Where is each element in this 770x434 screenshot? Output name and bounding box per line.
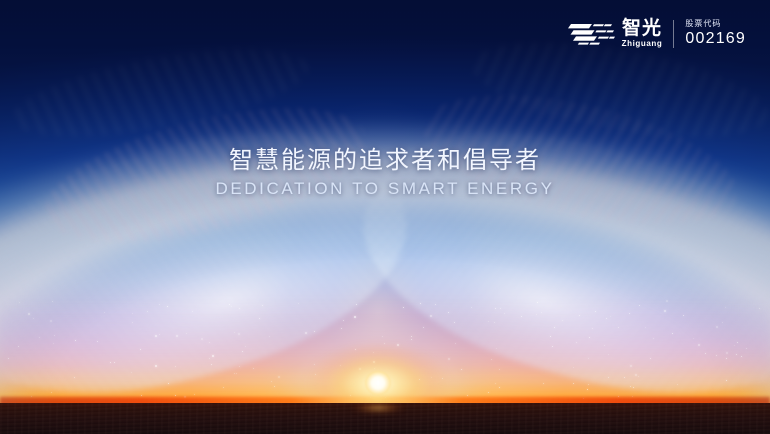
tagline-chinese: 智慧能源的追求者和倡导者 (0, 140, 770, 175)
tagline-block: 智慧能源的追求者和倡导者 DEDICATION TO SMART ENERGY (0, 140, 770, 199)
sun-reflection (349, 401, 407, 434)
logo-wordmark: 智光 Zhiguang (622, 19, 663, 48)
zhiguang-logo-mark (567, 20, 615, 48)
brand-divider (673, 20, 674, 48)
sunset-banner-canvas: 智光 Zhiguang 股票代码 002169 智慧能源的追求者和倡导者 DED… (0, 0, 770, 434)
tagline-english: DEDICATION TO SMART ENERGY (0, 179, 770, 199)
stock-code-value: 002169 (685, 31, 746, 47)
brand-bar: 智光 Zhiguang 股票代码 002169 (567, 19, 746, 48)
logo-lockup[interactable]: 智光 Zhiguang (567, 19, 663, 48)
brand-name-cn: 智光 (622, 19, 662, 38)
setting-sun (365, 371, 392, 396)
stock-code-label: 股票代码 (685, 20, 721, 28)
brand-name-pinyin: Zhiguang (622, 40, 663, 48)
stock-code-block: 股票代码 002169 (685, 20, 746, 47)
